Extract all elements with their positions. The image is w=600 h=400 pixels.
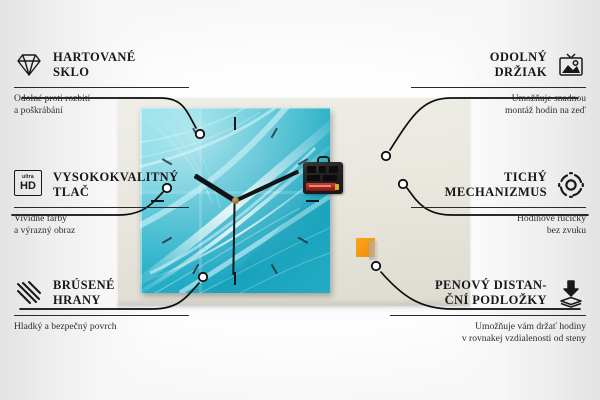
feature-tempered-glass: HARTOVANÉSKLO Odolné proti rozbitía pošk… bbox=[14, 48, 189, 118]
mechanism-battery bbox=[306, 183, 336, 191]
diamond-icon bbox=[14, 50, 44, 80]
feature-header: ultra HD VYSOKOKVALITNÝTLAČ bbox=[14, 168, 189, 202]
feature-high-quality-print: ultra HD VYSOKOKVALITNÝTLAČ Vivídne farb… bbox=[14, 168, 189, 238]
feature-description: Vivídne farbya výrazný obraz bbox=[14, 213, 189, 238]
feature-title: HARTOVANÉSKLO bbox=[53, 50, 136, 80]
feature-divider bbox=[14, 315, 189, 316]
foam-spacer-pad bbox=[356, 238, 375, 257]
feature-header: HARTOVANÉSKLO bbox=[14, 48, 189, 82]
feature-title: ODOLNÝDRŽIAK bbox=[490, 50, 547, 80]
feature-foam-spacers: PENOVÝ DISTAN-ČNÍ PODLOŽKY Umožňuje vám … bbox=[390, 276, 586, 346]
feature-description: Umožňuje vám držať hodinyv rovnakej vzdi… bbox=[390, 321, 586, 346]
clock-mechanism bbox=[303, 156, 343, 194]
down-arrow-stack-icon bbox=[556, 278, 586, 308]
feature-header: TICHÝMECHANIZMUS bbox=[411, 168, 586, 202]
feature-description: Hladký a bezpečný povrch bbox=[14, 321, 189, 333]
feature-description: Odolné proti rozbitía poškrábání bbox=[14, 93, 189, 118]
feature-title: TICHÝMECHANIZMUS bbox=[445, 170, 547, 200]
feature-title: VYSOKOKVALITNÝTLAČ bbox=[53, 170, 179, 200]
gear-icon bbox=[556, 170, 586, 200]
feature-description: Hodinové ručičkybez zvuku bbox=[411, 213, 586, 238]
feature-title: PENOVÝ DISTAN-ČNÍ PODLOŽKY bbox=[435, 278, 547, 308]
feature-header: BRÚSENÉHRANY bbox=[14, 276, 189, 310]
battery-label bbox=[309, 185, 331, 187]
feature-divider bbox=[411, 207, 586, 208]
feature-description: Umožňuje snadnoumontáž hodin na zeď bbox=[411, 93, 586, 118]
feature-ground-edges: BRÚSENÉHRANY Hladký a bezpečný povrch bbox=[14, 276, 189, 333]
feature-header: ODOLNÝDRŽIAK bbox=[411, 48, 586, 82]
picture-frame-icon bbox=[556, 50, 586, 80]
feature-header: PENOVÝ DISTAN-ČNÍ PODLOŽKY bbox=[390, 276, 586, 310]
hd-icon-top-text: ultra bbox=[22, 175, 34, 180]
infographic-canvas: HARTOVANÉSKLO Odolné proti rozbitía pošk… bbox=[0, 0, 600, 400]
feature-divider bbox=[14, 87, 189, 88]
feature-durable-hanger: ODOLNÝDRŽIAK Umožňuje snadnoumontáž hodi… bbox=[411, 48, 586, 118]
diagonal-lines-icon bbox=[14, 278, 44, 308]
feature-silent-mechanism: TICHÝMECHANIZMUS Hodinové ručičkybez zvu… bbox=[411, 168, 586, 238]
feature-divider bbox=[411, 87, 586, 88]
feature-divider bbox=[14, 207, 189, 208]
feature-title: BRÚSENÉHRANY bbox=[53, 278, 115, 308]
feature-divider bbox=[390, 315, 586, 316]
ultra-hd-icon: ultra HD bbox=[14, 170, 44, 200]
mechanism-body bbox=[303, 162, 343, 194]
hd-icon-main-text: HD bbox=[20, 181, 36, 192]
